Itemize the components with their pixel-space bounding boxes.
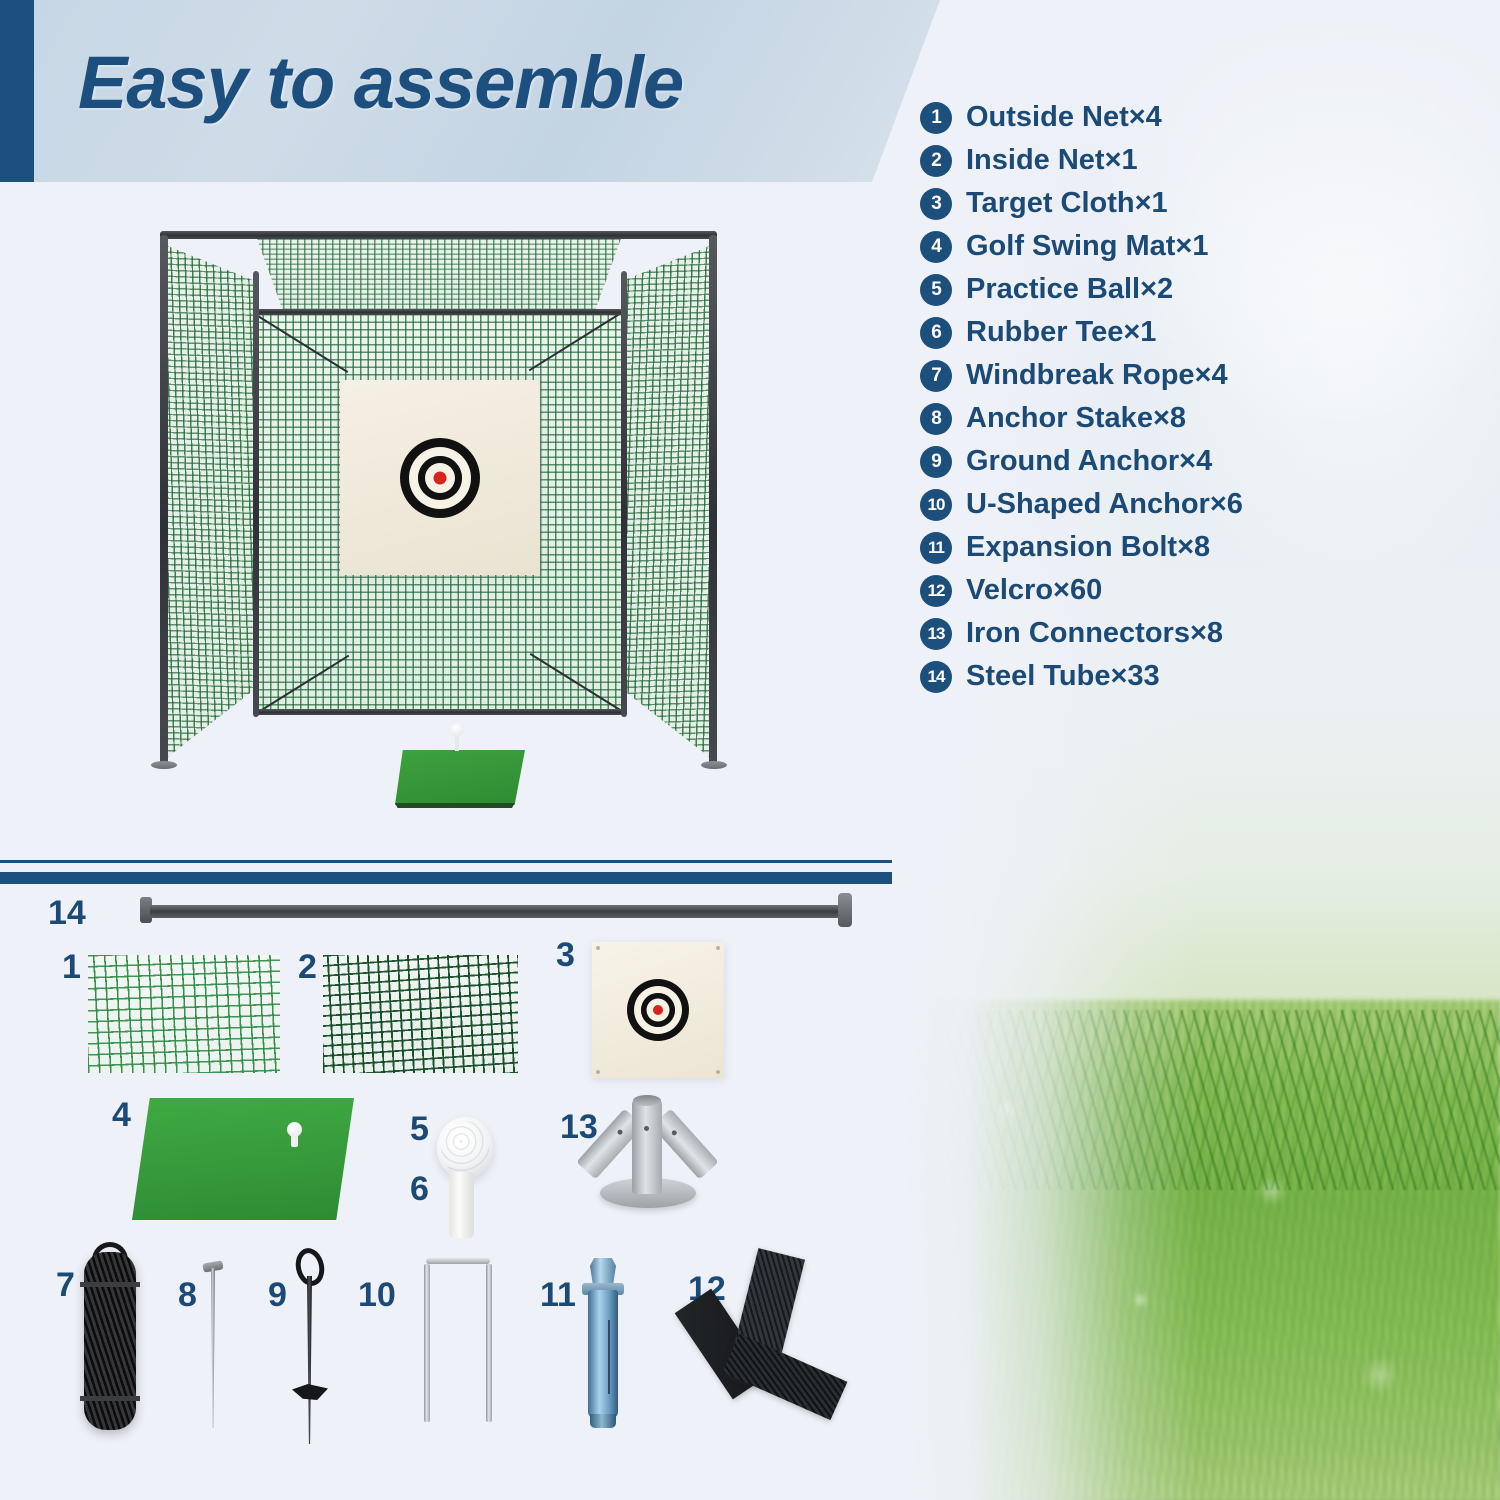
swing-mat-icon [132,1098,354,1220]
badge-number: 11 [920,532,952,564]
golf-net-cage-icon [110,205,770,825]
parts-list-item-label: Inside Net×1 [966,146,1138,175]
parts-list-item: 9 Ground Anchor×4 [920,440,1440,483]
page-title: Easy to assemble [78,40,683,125]
parts-list-item-label: Steel Tube×33 [966,662,1160,691]
u-anchor-top [426,1258,490,1264]
parts-list-item-label: Iron Connectors×8 [966,619,1223,648]
badge-number: 12 [920,575,952,607]
target-bullseye-dot [653,1005,663,1015]
parts-list-item: 7 Windbreak Rope×4 [920,354,1440,397]
section-divider [0,860,892,884]
gallery-number-13: 13 [560,1110,598,1144]
gallery-number-9: 9 [268,1278,287,1312]
gallery-number-8: 8 [178,1278,197,1312]
gallery-number-1: 1 [62,950,81,984]
parts-list-item: 2 Inside Net×1 [920,139,1440,182]
frame-post-back-right [621,271,627,717]
divider-thin-line [0,860,892,863]
connector-hole [644,1126,649,1131]
anchor-stake-icon [211,1268,215,1428]
frame-bar-front-top [160,231,717,239]
parts-list: 1 Outside Net×4 2 Inside Net×1 3 Target … [920,96,1440,698]
cloth-grommet [596,1070,600,1074]
ground-anchor-screw [292,1384,328,1400]
badge-number: 9 [920,446,952,478]
parts-list-item: 10 U-Shaped Anchor×6 [920,483,1440,526]
parts-list-item-label: Golf Swing Mat×1 [966,232,1209,261]
swing-mat-icon [395,750,525,805]
badge-number: 7 [920,360,952,392]
expansion-bolt-nut [590,1258,616,1286]
badge-number: 8 [920,403,952,435]
gallery-number-7: 7 [56,1268,75,1302]
steel-tube-icon [150,905,840,918]
outside-net-swatch-icon [88,955,280,1073]
gallery-number-11: 11 [540,1278,576,1312]
u-shaped-anchor-icon [420,1258,496,1438]
net-panel-top [255,233,623,315]
golf-ball-icon [437,1117,493,1179]
parts-list-item: 8 Anchor Stake×8 [920,397,1440,440]
frame-post-back-left [253,271,259,717]
badge-number: 4 [920,231,952,263]
cloth-grommet [716,946,720,950]
rope-band [80,1282,140,1287]
gallery-number-6: 6 [410,1172,429,1206]
parts-list-item: 13 Iron Connectors×8 [920,612,1440,655]
bullseye-target-icon [340,380,540,575]
parts-list-item: 6 Rubber Tee×1 [920,311,1440,354]
u-anchor-leg [424,1264,430,1422]
badge-number: 2 [920,145,952,177]
parts-list-item: 12 Velcro×60 [920,569,1440,612]
gallery-number-4: 4 [112,1098,131,1132]
parts-list-item-label: U-Shaped Anchor×6 [966,490,1243,519]
parts-list-item-label: Ground Anchor×4 [966,447,1212,476]
connector-hole [616,1129,623,1136]
gallery-number-2: 2 [298,950,317,984]
velcro-strip-icon [723,1334,848,1420]
rubber-tee-icon [449,1172,474,1238]
badge-number: 10 [920,489,952,521]
parts-list-item: 4 Golf Swing Mat×1 [920,225,1440,268]
divider-thick-bar [0,872,892,884]
target-bullseye-dot [434,471,447,484]
golf-ball-icon [287,1122,302,1137]
net-panel-left [160,243,255,763]
parts-list-item-label: Target Cloth×1 [966,189,1168,218]
gallery-number-10: 10 [358,1278,396,1312]
ground-anchor-icon [307,1276,312,1444]
cloth-grommet [596,946,600,950]
frame-foot [151,761,177,769]
connector-hole [671,1129,678,1136]
parts-list-item-label: Expansion Bolt×8 [966,533,1210,562]
banner-accent-bar [0,0,34,182]
gallery-number-14: 14 [48,896,86,930]
parts-list-item-label: Velcro×60 [966,576,1102,605]
rope-band [80,1396,140,1401]
badge-number: 14 [920,661,952,693]
iron-connector-icon [632,1100,662,1194]
parts-list-item: 14 Steel Tube×33 [920,655,1440,698]
golf-ball-icon [451,723,464,736]
expansion-bolt-icon [588,1290,618,1418]
badge-number: 6 [920,317,952,349]
parts-list-item-label: Practice Ball×2 [966,275,1173,304]
windbreak-rope-icon [84,1252,136,1430]
frame-bar-back-bottom [255,709,623,715]
badge-number: 3 [920,188,952,220]
frame-post-front-right [709,235,717,765]
parts-list-item: 11 Expansion Bolt×8 [920,526,1440,569]
parts-list-item: 3 Target Cloth×1 [920,182,1440,225]
expansion-bolt-split [608,1320,610,1394]
gallery-number-3: 3 [556,938,575,972]
parts-list-item-label: Rubber Tee×1 [966,318,1156,347]
u-anchor-leg [486,1264,492,1422]
header-banner: Easy to assemble [0,0,940,182]
swing-mat-edge [395,803,525,808]
badge-number: 13 [920,618,952,650]
expansion-bolt-tip [590,1414,616,1428]
parts-list-item: 5 Practice Ball×2 [920,268,1440,311]
parts-list-item-label: Outside Net×4 [966,103,1162,132]
steel-tube-end-cap-right [838,893,852,927]
parts-list-item-label: Windbreak Rope×4 [966,361,1228,390]
badge-number: 5 [920,274,952,306]
badge-number: 1 [920,102,952,134]
gallery-number-5: 5 [410,1112,429,1146]
inside-net-swatch-icon [323,955,518,1073]
frame-foot [701,761,727,769]
cloth-grommet [716,1070,720,1074]
parts-list-item-label: Anchor Stake×8 [966,404,1186,433]
net-panel-right [622,243,717,763]
frame-post-front-left [160,235,168,765]
frame-bar-back-top [255,309,623,315]
bullseye-target-icon [592,942,724,1078]
parts-list-item: 1 Outside Net×4 [920,96,1440,139]
